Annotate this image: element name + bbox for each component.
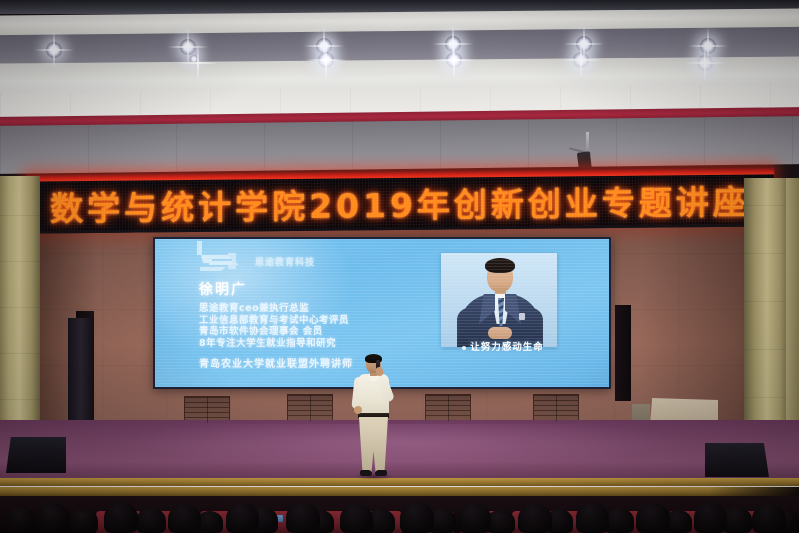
column-right [744, 178, 788, 446]
stage-door-right [615, 305, 631, 401]
stage-floor-reflection [120, 424, 680, 470]
audience-area [0, 496, 799, 533]
audience-head [6, 507, 36, 533]
portrait-hands [488, 327, 512, 339]
slide-credential-line: 8年专注大学生就业指导和研究 [199, 338, 439, 350]
presenter-shoe-right [375, 470, 387, 476]
wall-vent [425, 394, 471, 422]
caption-text: 让努力感动生命 [470, 342, 544, 353]
audience-head [36, 503, 70, 533]
audience-head [286, 502, 320, 533]
slide-affiliation: 青岛农业大学就业联盟外聘讲师 [199, 355, 353, 370]
column-left-texture [0, 176, 40, 446]
audience-head [518, 504, 552, 533]
auditorium-photo: 数学与统计学院2019年创新创业专题讲座 思途教育科技 徐明广 思途教育ceo兼… [0, 0, 799, 533]
portrait-pocket-square [519, 313, 525, 320]
column-right-texture [744, 178, 788, 446]
audience-head [458, 503, 491, 533]
audience-head [104, 502, 138, 533]
slide-portrait-photo [441, 253, 557, 347]
loudspeaker-icon [6, 437, 66, 473]
audience-head [226, 503, 259, 533]
spotlight-icon [700, 38, 716, 54]
slide-credential-line: 青岛市软件协会理事会 会员 [199, 326, 439, 338]
loudspeaker-icon [705, 443, 769, 477]
spotlight-icon [46, 42, 62, 58]
grey-band-texture [0, 116, 799, 174]
spotlight-icon [180, 39, 196, 55]
slide-portrait-caption: 让努力感动生命 [447, 339, 559, 353]
slide-credential-line: 工业信息部教育与考试中心考评员 [199, 315, 439, 327]
grey-wall-band [0, 116, 799, 174]
audience-head [168, 504, 201, 533]
slide-speaker-name: 徐明广 [199, 279, 247, 299]
spotlight-icon [190, 55, 198, 63]
spotlight-icon [576, 36, 592, 52]
audience-head [136, 508, 166, 533]
audience-head [694, 502, 727, 533]
portrait-hair [485, 258, 515, 273]
audience-head [400, 502, 434, 533]
side-wall-right [786, 178, 799, 446]
audience-head [636, 503, 670, 533]
st-logo-icon [197, 252, 247, 274]
spotlight-icon [573, 52, 589, 68]
audience-head [752, 504, 786, 533]
caption-bullet-icon [462, 346, 466, 350]
wall-vent [533, 394, 579, 422]
led-banner-text: 数学与统计学院2019年创新创业专题讲座 [26, 174, 774, 231]
spotlight-icon [318, 52, 334, 68]
presenter-pants [359, 417, 388, 472]
spotlight-icon [446, 52, 462, 68]
presenter [352, 355, 396, 480]
presenter-hand-left [354, 406, 362, 414]
led-banner: 数学与统计学院2019年创新创业专题讲座 [26, 174, 774, 233]
audience-head [70, 509, 98, 533]
slide-credentials: 思途教育ceo兼执行总监 工业信息部教育与考试中心考评员 青岛市软件协会理事会 … [199, 303, 439, 349]
column-left [0, 176, 40, 446]
slide-credential-line: 思途教育ceo兼执行总监 [199, 303, 439, 315]
audience-head [576, 502, 609, 533]
presenter-shoe-left [360, 470, 372, 476]
wall-vent [287, 394, 333, 422]
audience-head [340, 504, 373, 533]
spotlight-icon [697, 55, 713, 71]
slide-logo-text: 思途教育科技 [255, 255, 315, 268]
